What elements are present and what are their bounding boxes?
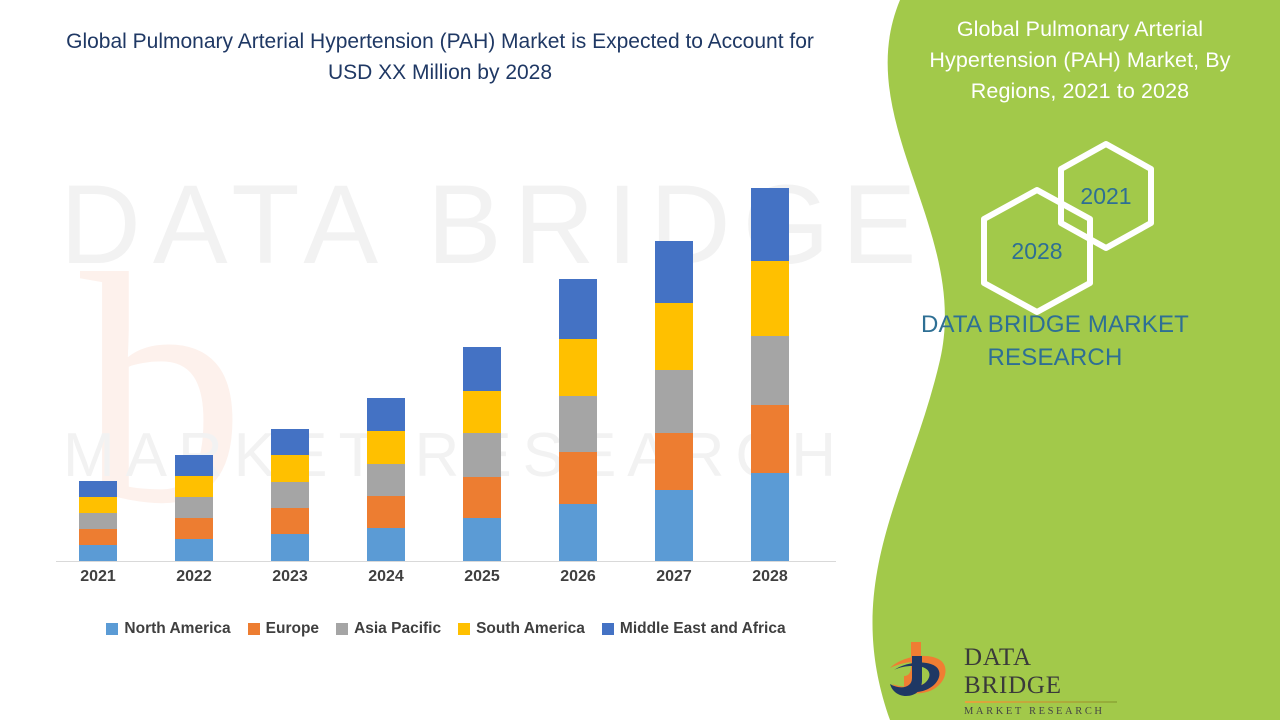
- bar-segment-europe-2028: [751, 405, 789, 473]
- legend-label: North America: [124, 620, 230, 638]
- bar-segment-north-america-2026: [559, 504, 597, 561]
- bar-segment-north-america-2027: [655, 490, 693, 561]
- bar-segment-europe-2022: [175, 518, 213, 539]
- x-tick-2027: 2027: [639, 568, 709, 586]
- bar-2027: [655, 241, 693, 561]
- legend-swatch-icon: [458, 623, 470, 635]
- legend-label: Europe: [266, 620, 319, 638]
- bar-2028: [751, 188, 789, 561]
- logo-mark-icon: [888, 638, 958, 700]
- bar-segment-europe-2027: [655, 433, 693, 490]
- x-tick-2023: 2023: [255, 568, 325, 586]
- bar-2026: [559, 279, 597, 561]
- bar-2024: [367, 398, 405, 561]
- x-tick-2026: 2026: [543, 568, 613, 586]
- x-tick-2022: 2022: [159, 568, 229, 586]
- legend-swatch-icon: [602, 623, 614, 635]
- right-green-panel: Global Pulmonary Arterial Hypertension (…: [830, 0, 1280, 720]
- legend-label: Middle East and Africa: [620, 620, 786, 638]
- bar-segment-middle-east-and-africa-2026: [559, 279, 597, 339]
- bar-segment-middle-east-and-africa-2023: [271, 429, 309, 455]
- bar-segment-middle-east-and-africa-2028: [751, 188, 789, 261]
- bar-segment-asia-pacific-2027: [655, 370, 693, 433]
- legend-item-europe[interactable]: Europe: [248, 620, 319, 638]
- bar-segment-europe-2021: [79, 529, 117, 545]
- x-axis-labels: 20212022202320242025202620272028: [56, 568, 836, 594]
- x-tick-2024: 2024: [351, 568, 421, 586]
- hexagon-badges: 2028 2021: [960, 140, 1220, 290]
- legend-item-south-america[interactable]: South America: [458, 620, 585, 638]
- bar-segment-europe-2025: [463, 477, 501, 518]
- bar-segment-south-america-2028: [751, 261, 789, 336]
- legend-item-north-america[interactable]: North America: [106, 620, 230, 638]
- bar-2022: [175, 455, 213, 561]
- bar-segment-south-america-2026: [559, 339, 597, 396]
- x-tick-2021: 2021: [63, 568, 133, 586]
- bar-segment-asia-pacific-2024: [367, 464, 405, 496]
- bar-segment-north-america-2023: [271, 534, 309, 561]
- hexagon-label-2028: 2028: [1011, 238, 1062, 265]
- logo-title: DATA BRIDGE: [964, 644, 1124, 700]
- logo-subtitle: MARKET RESEARCH: [964, 705, 1124, 718]
- hexagon-label-2021: 2021: [1080, 183, 1131, 210]
- bar-segment-middle-east-and-africa-2024: [367, 398, 405, 431]
- logo-text-block: DATA BRIDGE MARKET RESEARCH: [964, 644, 1124, 718]
- bar-segment-south-america-2021: [79, 497, 117, 513]
- bar-segment-north-america-2024: [367, 528, 405, 561]
- bar-segment-north-america-2028: [751, 473, 789, 561]
- bar-segment-middle-east-and-africa-2022: [175, 455, 213, 476]
- bar-segment-north-america-2025: [463, 518, 501, 561]
- bar-segment-asia-pacific-2026: [559, 396, 597, 452]
- chart-title: Global Pulmonary Arterial Hypertension (…: [60, 26, 820, 88]
- bar-segment-middle-east-and-africa-2027: [655, 241, 693, 303]
- hexagon-badge-2021: 2021: [1056, 140, 1156, 252]
- legend-swatch-icon: [106, 623, 118, 635]
- legend-label: Asia Pacific: [354, 620, 441, 638]
- bar-segment-south-america-2024: [367, 431, 405, 464]
- panel-title: Global Pulmonary Arterial Hypertension (…: [890, 14, 1270, 107]
- company-logo: DATA BRIDGE MARKET RESEARCH: [888, 638, 1118, 704]
- x-tick-2025: 2025: [447, 568, 517, 586]
- bar-2021: [79, 481, 117, 561]
- legend-swatch-icon: [336, 623, 348, 635]
- bar-segment-north-america-2021: [79, 545, 117, 561]
- infographic-canvas: b DATA BRIDGE MARKET RESEARCH Global Pul…: [0, 0, 1280, 720]
- stacked-bar-chart: [56, 150, 836, 562]
- legend-label: South America: [476, 620, 585, 638]
- bar-segment-europe-2024: [367, 496, 405, 528]
- bar-2025: [463, 347, 501, 561]
- bar-segment-north-america-2022: [175, 539, 213, 561]
- legend-item-asia-pacific[interactable]: Asia Pacific: [336, 620, 441, 638]
- bar-2023: [271, 429, 309, 561]
- bar-segment-asia-pacific-2023: [271, 482, 309, 508]
- brand-name-text: DATA BRIDGE MARKET RESEARCH: [865, 308, 1245, 374]
- bar-segment-south-america-2022: [175, 476, 213, 497]
- bar-segment-asia-pacific-2028: [751, 336, 789, 405]
- bar-segment-asia-pacific-2022: [175, 497, 213, 518]
- bar-segment-asia-pacific-2025: [463, 433, 501, 477]
- x-axis-line: [56, 561, 836, 562]
- bar-segment-europe-2023: [271, 508, 309, 534]
- bar-segment-middle-east-and-africa-2025: [463, 347, 501, 391]
- bar-segment-south-america-2025: [463, 391, 501, 433]
- bar-segment-south-america-2023: [271, 455, 309, 482]
- legend-swatch-icon: [248, 623, 260, 635]
- x-tick-2028: 2028: [735, 568, 805, 586]
- bar-segment-middle-east-and-africa-2021: [79, 481, 117, 497]
- bar-segment-asia-pacific-2021: [79, 513, 117, 529]
- legend-item-middle-east-and-africa[interactable]: Middle East and Africa: [602, 620, 786, 638]
- chart-legend: North AmericaEuropeAsia PacificSouth Ame…: [56, 617, 836, 641]
- logo-divider: [965, 701, 1117, 703]
- bar-segment-south-america-2027: [655, 303, 693, 370]
- bar-segment-europe-2026: [559, 452, 597, 504]
